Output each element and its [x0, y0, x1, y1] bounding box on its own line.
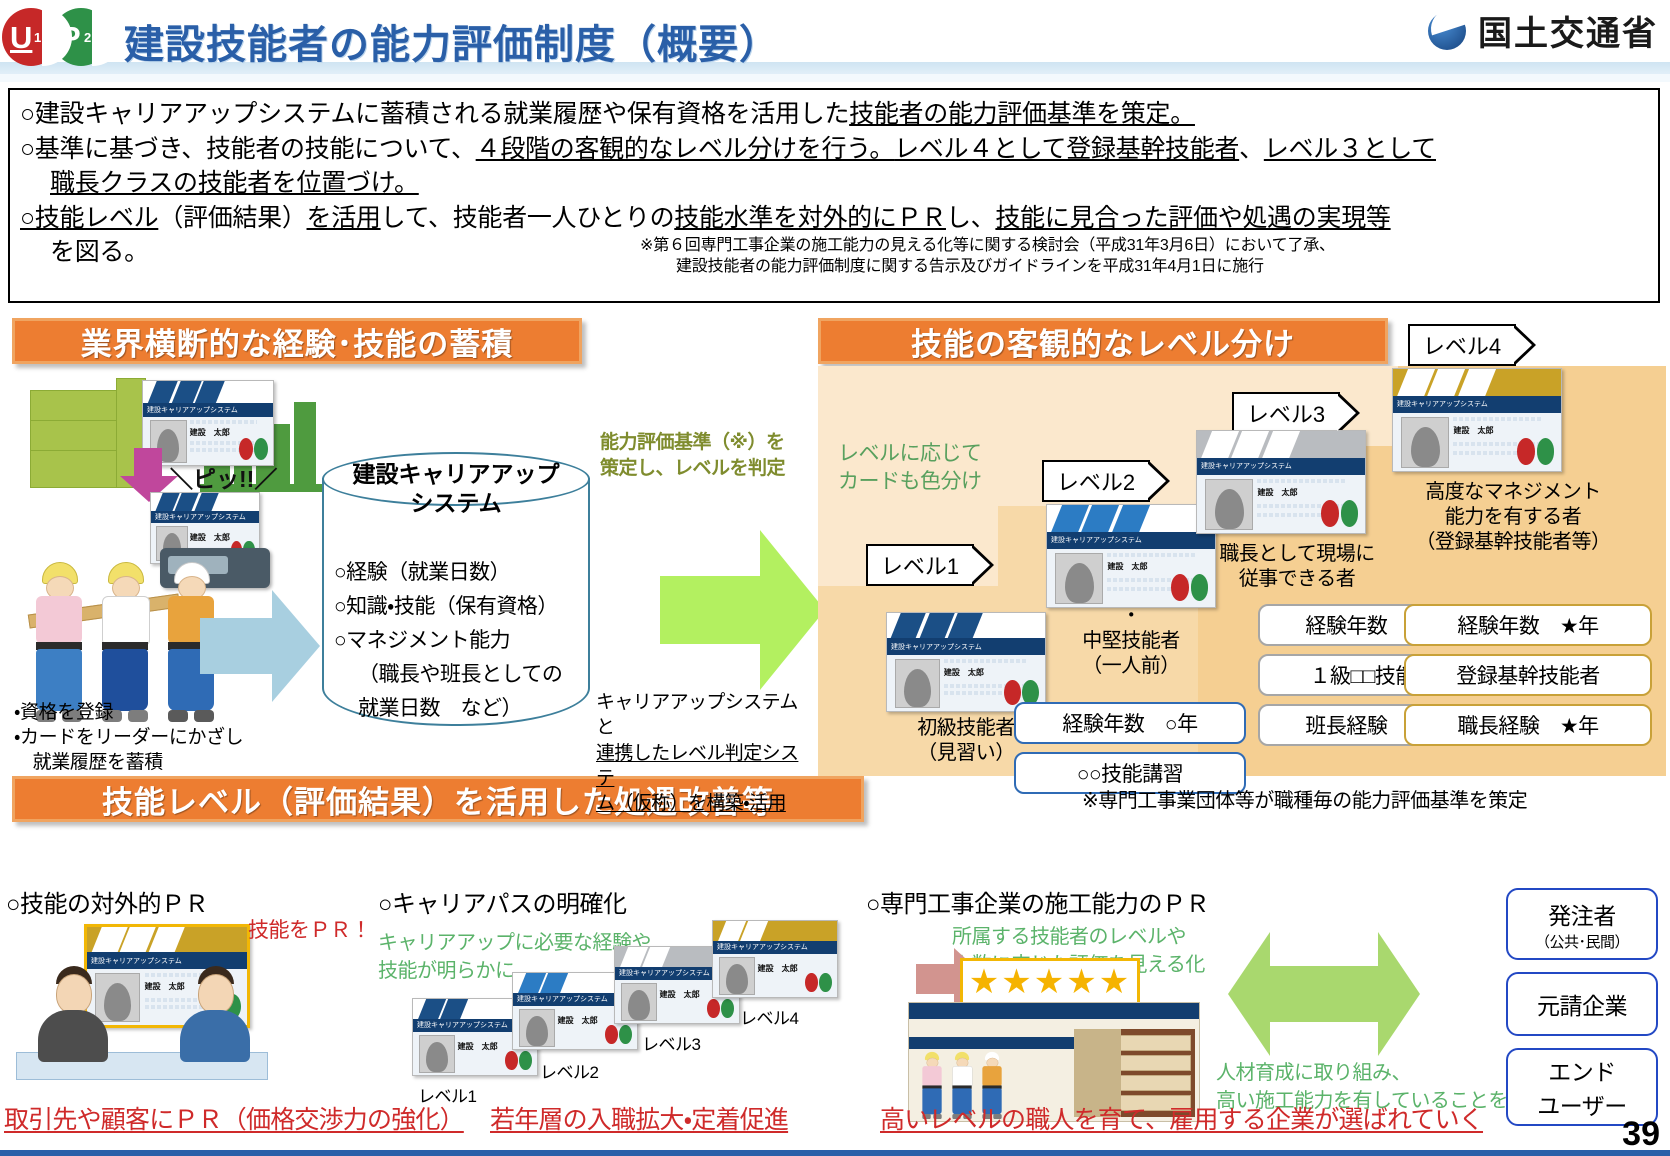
card-title: 建設キャリアアップシステム — [151, 511, 259, 523]
section-banner-left-label: 業界横断的な経験･技能の蓄積 — [81, 319, 514, 364]
summary-underlined-text: レベル４として登録基幹技能者 — [894, 135, 1239, 163]
summary-text: （評価結果） — [158, 204, 306, 232]
caption-line: 中堅技能者 — [1018, 629, 1244, 654]
bottom-col2-underline: 若年層の入職拡大・定着促進 — [490, 1100, 788, 1136]
section-banner-right-label: 技能の客観的なレベル分け — [911, 319, 1295, 364]
stakeholder-box-contractor: 元請企業 — [1506, 972, 1658, 1036]
stakeholder-box-client: 発注者 （公共･民間） — [1506, 888, 1658, 960]
bottom-col3-heading: ○専門工事企業の施工能力のＰＲ — [866, 884, 1209, 919]
card-holder-name: 建設 太郎 — [1257, 487, 1297, 498]
person-right-illustration-icon — [176, 966, 262, 1058]
card-title: 建設キャリアアップシステム — [713, 941, 837, 954]
summary-text: し、 — [946, 204, 995, 232]
section-banner-left: 業界横断的な経験･技能の蓄積 — [12, 318, 582, 364]
card-holder-name: 建設 太郎 — [758, 963, 798, 974]
level-chip-3: レベル3 — [1232, 392, 1340, 434]
stack-label-level-4: レベル4 — [740, 1004, 798, 1029]
caption-line: 職長として現場に — [1186, 542, 1408, 567]
caption-line: （登録基幹技能者等） — [1378, 530, 1648, 555]
database-title: 建設キャリアアップ システム — [322, 460, 590, 517]
page-title: 建設技能者の能力評価制度（概要） — [124, 12, 780, 70]
evaluation-criteria-label: 能力評価基準（※）を 策定し、レベルを判定 — [600, 430, 810, 481]
careerup-logo-icon: U 1 P 2 — [2, 6, 122, 68]
caption-line: 従事できる者 — [1186, 567, 1408, 592]
database-title-line-2: システム — [322, 489, 590, 518]
database-title-line-1: 建設キャリアアップ — [322, 460, 590, 489]
list-item: ○経験（就業日数） — [334, 556, 584, 590]
logo-sub-2: 2 — [84, 30, 91, 45]
bottom-col1-heading: ○技能の対外的ＰＲ — [6, 884, 208, 919]
slide-root: U 1 P 2 建設技能者の能力評価制度（概要） 国土交通省 ○建設キャリアアッ… — [0, 0, 1670, 1156]
list-item: ・資格を登録 — [14, 700, 243, 725]
summary-text: ○建設キャリアアップシステムに蓄積される就業履歴や保有資格を活用した — [20, 100, 849, 128]
rating-callout: ★★★★★ — [960, 958, 1140, 1006]
stack-label-level-1: レベル1 — [418, 1082, 476, 1107]
summary-text: 、 — [1239, 135, 1264, 163]
summary-footnote: ※第６回専門工事企業の施工能力の見える化等に関する検討会（平成31年3月6日）に… — [20, 235, 1648, 278]
card-holder-name: 建設 太郎 — [190, 532, 230, 543]
level-caption-4: 高度なマネジメント 能力を有する者 （登録基幹技能者等） — [1378, 480, 1648, 556]
stakeholder-label: エンド — [1548, 1053, 1616, 1087]
card-holder-name: 建設 太郎 — [660, 989, 700, 1000]
summary-line-2: ○基準に基づき、技能者の技能について、４段階の客観的なレベル分けを行う。レベル４… — [20, 133, 1648, 166]
bottom-col1-underline: 取引先や顧客にＰＲ（価格交渉力の強化） — [4, 1100, 464, 1136]
card-title: 建設キャリアアップシステム — [1197, 458, 1365, 475]
summary-underlined-text: ４段階の客観的なレベル分けを行う。 — [476, 135, 894, 163]
footnote-line-1: ※第６回専門工事企業の施工能力の見える化等に関する検討会（平成31年3月6日）に… — [640, 235, 1648, 257]
summary-underlined-text: 技能に見合った評価や処遇の実現等 — [995, 204, 1390, 232]
card-holder-name: 建設 太郎 — [458, 1041, 498, 1052]
evaluation-criteria-line-1: 能力評価基準（※）を — [600, 430, 810, 456]
careerup-system-database: 建設キャリアアップ システム ○経験（就業日数） ○知識・技能（保有資格） ○マ… — [322, 452, 590, 752]
card-title: 建設キャリアアップシステム — [143, 403, 273, 417]
card-holder-name: 建設 太郎 — [944, 667, 984, 678]
note-line-3: ム（仮称）を構築・活用 — [596, 791, 814, 816]
list-item: 就業日数 など） — [334, 692, 584, 726]
level-chip-4: レベル4 — [1408, 324, 1516, 366]
logo-sub-1: 1 — [34, 30, 41, 45]
logo-letter-p: P — [60, 20, 81, 56]
note-line-1: キャリアアップに必要な経験や — [378, 930, 651, 958]
summary-underlined-text: を活用 — [307, 204, 381, 232]
level-footnote: ※専門工事業団体等が職種毎の能力評価基準を策定 — [1082, 784, 1527, 813]
list-item: 就業履歴を蓄積 — [14, 750, 243, 775]
pitt-sound-label: ＼ピッ!!／ — [170, 460, 277, 494]
stakeholder-sublabel: （公共･民間） — [1535, 931, 1629, 952]
person-left-illustration-icon — [30, 966, 116, 1058]
card-holder-name: 建設 太郎 — [1107, 561, 1147, 572]
bottom-col3-underline: 高いレベルの職人を育て、雇用する企業が選ばれていく — [880, 1100, 1483, 1136]
database-item-list: ○経験（就業日数） ○知識・技能（保有資格） ○マネジメント能力 （職長や班長と… — [334, 556, 584, 726]
caption-line: 能力を有する者 — [1378, 505, 1648, 530]
card-color-note-line-2: カードも色分け — [838, 468, 982, 496]
requirement-pill: 登録基幹技能者 — [1404, 654, 1652, 696]
evaluation-criteria-line-2: 策定し、レベルを判定 — [600, 456, 810, 482]
flow-arrow-to-database-icon — [200, 590, 320, 702]
level-4-requirements: 経験年数 ★年 登録基幹技能者 職長経験 ★年 — [1404, 604, 1652, 754]
logo-letter-u: U — [10, 20, 32, 56]
stack-label-level-3: レベル3 — [642, 1030, 700, 1055]
summary-underlined-text: 職長クラスの技能者を位置づけ。 — [50, 169, 419, 197]
bottom-col2-heading: ○キャリアパスの明確化 — [378, 884, 627, 919]
summary-text: ○基準に基づき、技能者の技能について、 — [20, 135, 476, 163]
summary-box: ○建設キャリアアップシステムに蓄積される就業履歴や保有資格を活用した技能者の能力… — [8, 88, 1660, 303]
star-rating: ★★★★★ — [969, 965, 1131, 999]
level-judgement-system-note: キャリアアップシステムと 連携したレベル判定システ ム（仮称）を構築・活用 — [596, 690, 814, 816]
stack-card-level-4: 建設キャリアアップシステム 建設 太郎 — [712, 920, 838, 998]
requirement-pill: 経験年数 ★年 — [1404, 604, 1652, 646]
caption-line: ・ — [1018, 604, 1244, 629]
pr-skill-label: 技能をＰＲ！ — [248, 914, 371, 944]
card-color-note-line-1: レベルに応じて — [838, 440, 982, 468]
footnote-line-2: 建設技能者の能力評価制度に関する告示及びガイドラインを平成31年4月1日に施行 — [640, 256, 1648, 278]
card-holder-name: 建設 太郎 — [1453, 425, 1493, 436]
footer-accent-line — [0, 1150, 1670, 1156]
requirement-pill: 経験年数 ○年 — [1014, 702, 1246, 744]
card-holder-name: 建設 太郎 — [558, 1015, 598, 1026]
green-flow-arrow-icon — [660, 530, 825, 690]
list-item: （職長や班長としての — [334, 658, 584, 692]
section-banner-right: 技能の客観的なレベル分け — [818, 318, 1388, 364]
summary-underlined-text: ○技能レベル — [20, 204, 158, 232]
summary-underlined-text: 技能水準を対外的にＰＲ — [674, 204, 946, 232]
note-line-1: 人材育成に取り組み、 — [1216, 1060, 1547, 1088]
card-title: 建設キャリアアップシステム — [1393, 396, 1561, 413]
ministry-emblem-icon — [1426, 10, 1468, 52]
level-caption-2: ・ 中堅技能者 （一人前） — [1018, 604, 1244, 680]
list-item: ・カードをリーダーにかざし — [14, 725, 243, 750]
list-item: ○マネジメント能力 — [334, 624, 584, 658]
summary-underlined-text: 技能者の能力評価基準を策定。 — [849, 100, 1195, 128]
level-chip-2: レベル2 — [1042, 460, 1150, 502]
summary-line-1: ○建設キャリアアップシステムに蓄積される就業履歴や保有資格を活用した技能者の能力… — [20, 98, 1648, 131]
double-headed-arrow-icon — [1228, 932, 1420, 1056]
list-item: ○知識・技能（保有資格） — [334, 590, 584, 624]
left-bullet-list: ・資格を登録 ・カードをリーダーにかざし 就業履歴を蓄積 — [14, 700, 243, 775]
caption-line: 高度なマネジメント — [1378, 480, 1648, 505]
slide-header: U 1 P 2 建設技能者の能力評価制度（概要） 国土交通省 — [0, 0, 1670, 84]
ministry-name: 国土交通省 — [1478, 6, 1658, 55]
caption-line: （一人前） — [1018, 654, 1244, 679]
note-line-1: キャリアアップシステムと — [596, 690, 814, 741]
card-color-note: レベルに応じて カードも色分け — [838, 440, 982, 496]
stakeholder-label: 発注者 — [1548, 897, 1616, 931]
careerup-card-level-3: 建設キャリアアップシステム 建設 太郎 — [1196, 430, 1366, 534]
summary-underlined-text: レベル３として — [1264, 135, 1436, 163]
card-holder-name: 建設 太郎 — [190, 427, 230, 438]
page-number: 39 — [1622, 1115, 1660, 1154]
note-line-1: 所属する技能者のレベルや — [952, 924, 1205, 952]
note-line-2: 連携したレベル判定システ — [596, 741, 814, 792]
level-caption-3: 職長として現場に 従事できる者 — [1186, 542, 1408, 592]
ministry-branding: 国土交通省 — [1426, 6, 1658, 55]
stack-label-level-2: レベル2 — [540, 1058, 598, 1083]
requirement-pill: 職長経験 ★年 — [1404, 704, 1652, 746]
summary-line-4: ○技能レベル（評価結果）を活用して、技能者一人ひとりの技能水準を対外的にＰＲし、… — [20, 202, 1648, 235]
careerup-card-level-4: 建設キャリアアップシステム 建設 太郎 — [1392, 368, 1562, 472]
header-band-secondary — [0, 74, 1670, 82]
stakeholder-sublabel: ユーザー — [1537, 1087, 1627, 1121]
level-chip-1: レベル1 — [866, 544, 974, 586]
summary-text: して、技能者一人ひとりの — [381, 204, 675, 232]
stakeholder-label: 元請企業 — [1537, 987, 1627, 1021]
summary-line-3: 職長クラスの技能者を位置づけ。 — [20, 167, 1648, 200]
